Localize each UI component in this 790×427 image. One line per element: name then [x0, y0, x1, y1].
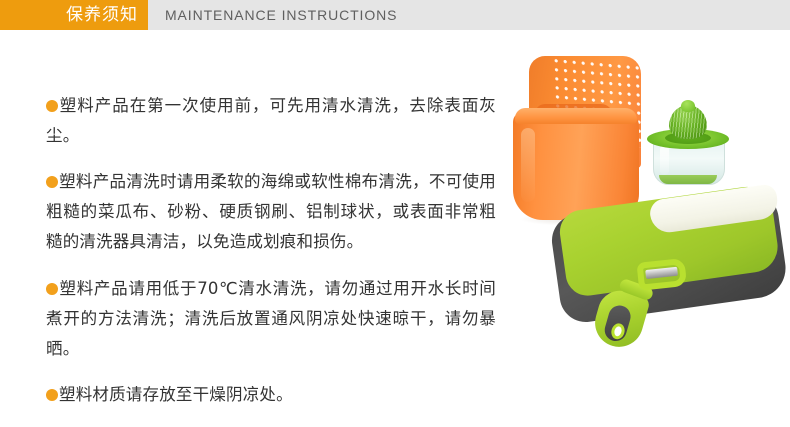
- colander-highlight: [521, 128, 535, 202]
- list-item: 塑料产品清洗时请用柔软的海绵或软性棉布清洗，不可使用粗糙的菜瓜布、砂粉、硬质钢刷…: [46, 167, 496, 257]
- product-photo: [495, 40, 790, 350]
- product-citrus-juicer: [647, 105, 729, 190]
- header-subtitle: MAINTENANCE INSTRUCTIONS: [165, 6, 397, 24]
- section-header-bar: 保养须知 MAINTENANCE INSTRUCTIONS: [0, 0, 790, 30]
- juicer-reamer-tip: [681, 100, 695, 112]
- colander-rim: [515, 108, 637, 124]
- bullet-dot-icon: [46, 389, 58, 401]
- list-item-text: 塑料产品请用低于70℃清水清洗，请勿通过用开水长时间煮开的方法清洗；清洗后放置通…: [46, 279, 496, 358]
- juicer-bowl-base: [659, 175, 717, 184]
- juicer-bowl-highlight: [660, 145, 669, 175]
- bullet-dot-icon: [46, 176, 58, 188]
- list-item-text: 塑料材质请存放至干燥阴凉处。: [59, 385, 293, 404]
- bullet-dot-icon: [46, 100, 58, 112]
- bullet-dot-icon: [46, 283, 58, 295]
- list-item: 塑料产品请用低于70℃清水清洗，请勿通过用开水长时间煮开的方法清洗；清洗后放置通…: [46, 274, 496, 364]
- list-item-text: 塑料产品在第一次使用前，可先用清水清洗，去除表面灰尘。: [46, 96, 496, 145]
- list-item: 塑料材质请存放至干燥阴凉处。: [46, 380, 496, 410]
- product-cutting-board: [555, 192, 790, 322]
- list-item: 塑料产品在第一次使用前，可先用清水清洗，去除表面灰尘。: [46, 91, 496, 151]
- header-tab-label: 保养须知: [66, 4, 138, 26]
- maintenance-instructions-list: 塑料产品在第一次使用前，可先用清水清洗，去除表面灰尘。 塑料产品清洗时请用柔软的…: [46, 74, 496, 427]
- header-tab-maintenance: 保养须知: [0, 0, 148, 30]
- list-item-text: 塑料产品清洗时请用柔软的海绵或软性棉布清洗，不可使用粗糙的菜瓜布、砂粉、硬质钢刷…: [46, 172, 496, 251]
- product-peeler: [595, 257, 702, 355]
